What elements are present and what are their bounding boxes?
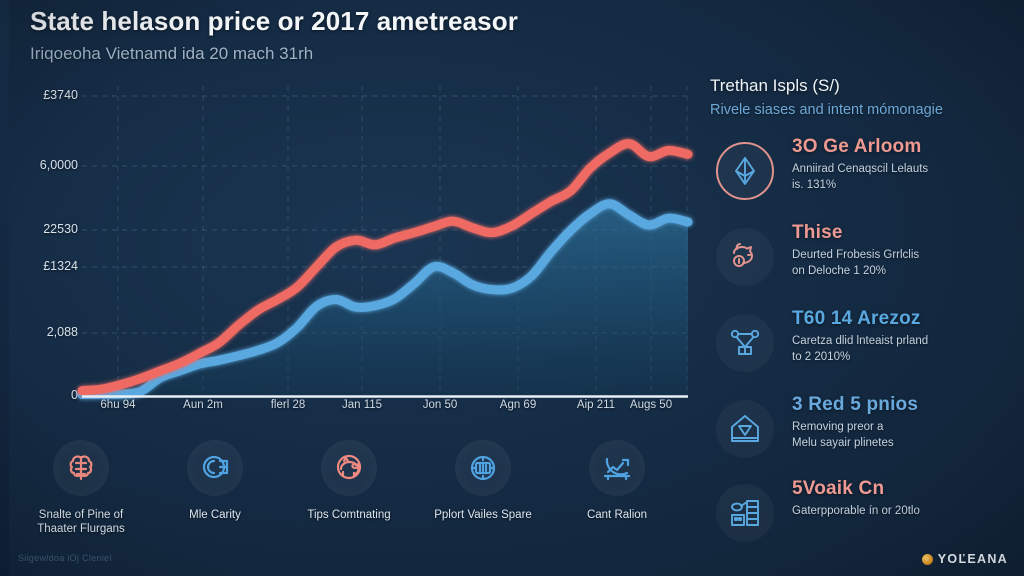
stat-body: ThiseDeurted Frobesis Grrlclison Deloche… [792,222,1022,279]
x-axis-tick-label: flerl 28 [271,399,306,411]
feature-item[interactable]: Tips Comtnating [282,440,416,522]
x-axis-tick-label: Jan 115 [342,399,382,411]
stat-item[interactable]: 3 Red 5 pniosRemoving preor aMelu sayair… [708,394,1022,472]
stat-value: 3 Red 5 pnios [792,394,1022,416]
coin-hand-icon [187,440,243,496]
x-axis-tick-label: 6hu 94 [100,399,135,411]
x-axis-tick-label: Jon 50 [423,399,458,411]
screenshot-root: State helason price or 2017 ametreasor I… [0,0,1024,576]
chart-header: State helason price or 2017 ametreasor I… [30,6,670,64]
panel-header: Trethan Ispls (S/) Rivele siases and int… [710,76,1020,118]
stat-item[interactable]: T60 14 ArezozCaretza dlid lnteaist prlan… [708,308,1022,386]
bar-chart-icon [716,484,774,542]
footnote: Siigewldoa iOj Cleniel [18,553,112,563]
feature-item[interactable]: Cant Ralion [550,440,684,522]
watermark-text: YOĽEANA [938,552,1008,566]
feature-icon-row: Snalte of Pine ofThaater Flurgans Mle Ca… [14,440,686,570]
page-subtitle: Iriqoeoha Vietnamd ida 20 mach 31rh [30,44,670,64]
feature-item-label: Cant Ralion [550,508,684,522]
feature-item-label: Tips Comtnating [282,508,416,522]
stat-value: Thise [792,222,1022,244]
feature-item-label: Pplort Vailes Spare [416,508,550,522]
x-axis-labels: 6hu 94Aun 2mflerl 28Jan 115Jon 50Agn 69A… [0,395,700,421]
stat-item[interactable]: 3O Ge ArloomAnniirad Cenaqscil Lelautsis… [708,136,1022,214]
line-chart: £37406,000022530£13242,0880 6hu 9 [0,78,700,418]
stat-value: 5Voaik Cn [792,478,1022,500]
stat-body: 5Voaik CnGaterpporable ín or 20tlo [792,478,1022,520]
feature-item-label: Mle Carity [148,508,282,522]
stats-panel: Trethan Ispls (S/) Rivele siases and int… [700,0,1024,576]
stat-body: T60 14 ArezozCaretza dlid lnteaist prlan… [792,308,1022,365]
vault-icon [455,440,511,496]
feature-item[interactable]: Pplort Vailes Spare [416,440,550,522]
stat-value: 3O Ge Arloom [792,136,1022,158]
stat-body: 3O Ge ArloomAnniirad Cenaqscil Lelautsis… [792,136,1022,193]
growth-icon [589,440,645,496]
x-axis-tick-label: Agn 69 [500,399,536,411]
house-shield-icon [716,400,774,458]
panel-title: Trethan Ispls (S/) [710,76,1020,96]
network-node-icon [716,314,774,372]
chart-plot-area [0,78,700,418]
stat-item[interactable]: ThiseDeurted Frobesis Grrlclison Deloche… [708,222,1022,300]
stat-value: T60 14 Arezoz [792,308,1022,330]
stat-description: Anniirad Cenaqscil Lelautsis. 131% [792,162,1022,193]
panel-subtitle: Rivele siases and intent mómonagie [710,102,1020,118]
watermark-logo-icon [922,554,933,565]
stat-body: 3 Red 5 pniosRemoving preor aMelu sayair… [792,394,1022,451]
stat-description: Removing preor aMelu sayair plinetes [792,420,1022,451]
page-title: State helason price or 2017 ametreasor [30,6,670,37]
feature-item[interactable]: Mle Carity [148,440,282,522]
piggy-bank-icon [716,228,774,286]
watermark: YOĽEANA [922,552,1008,566]
pig-icon [321,440,377,496]
feature-item-label: Snalte of Pine ofThaater Flurgans [14,508,148,537]
feature-item[interactable]: Snalte of Pine ofThaater Flurgans [14,440,148,537]
stat-description: Caretza dlid lnteaist prlandto 2 2010% [792,334,1022,365]
brain-icon [53,440,109,496]
ethereum-diamond-icon [716,142,774,200]
x-axis-tick-label: Augs 50 [630,399,672,411]
x-axis-tick-label: Aip 211 [577,399,615,411]
stat-description: Gaterpporable ín or 20tlo [792,504,1022,520]
x-axis-tick-label: Aun 2m [183,399,223,411]
stat-description: Deurted Frobesis Grrlclison Deloche 1 20… [792,248,1022,279]
stat-item[interactable]: 5Voaik CnGaterpporable ín or 20tlo [708,478,1022,556]
